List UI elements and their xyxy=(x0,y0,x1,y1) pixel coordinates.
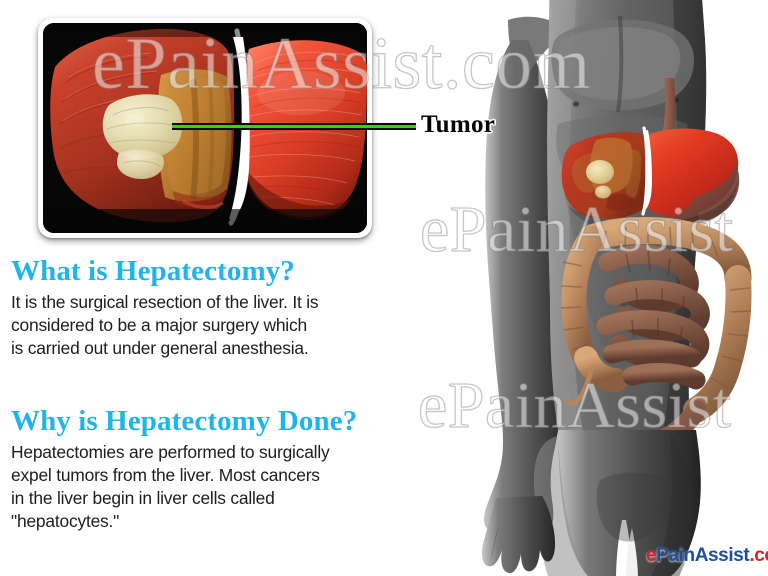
body-why-is-hepatectomy-done: Hepatectomies are performed to surgicall… xyxy=(11,441,431,533)
section-what-is-hepatectomy: What is Hepatectomy? It is the surgical … xyxy=(11,255,431,360)
body-line: in the liver begin in liver cells called xyxy=(11,487,431,510)
tumor-callout-label: Tumor xyxy=(421,111,495,139)
brand-prefix: e xyxy=(646,545,656,566)
infographic-page: ePainAssist.com ePainAssist ePainAssist … xyxy=(0,0,768,576)
body-line: It is the surgical resection of the live… xyxy=(11,291,431,314)
tumor-pointer-line xyxy=(172,123,416,130)
brand-logo[interactable]: ePainAssist.com xyxy=(646,545,768,567)
body-line: is carried out under general anesthesia. xyxy=(11,337,431,360)
heading-why-is-hepatectomy-done: Why is Hepatectomy Done? xyxy=(11,405,431,437)
male-torso-illustration xyxy=(400,0,768,576)
body-line: "hepatocytes." xyxy=(11,510,431,533)
body-line: considered to be a major surgery which xyxy=(11,314,431,337)
body-line: expel tumors from the liver. Most cancer… xyxy=(11,464,431,487)
heading-what-is-hepatectomy: What is Hepatectomy? xyxy=(11,255,431,287)
body-what-is-hepatectomy: It is the surgical resection of the live… xyxy=(11,291,431,360)
section-why-is-hepatectomy-done: Why is Hepatectomy Done? Hepatectomies a… xyxy=(11,405,431,533)
brand-suffix: .com xyxy=(749,545,768,566)
brand-middle: PainAssist xyxy=(656,545,749,566)
body-line: Hepatectomies are performed to surgicall… xyxy=(11,441,431,464)
